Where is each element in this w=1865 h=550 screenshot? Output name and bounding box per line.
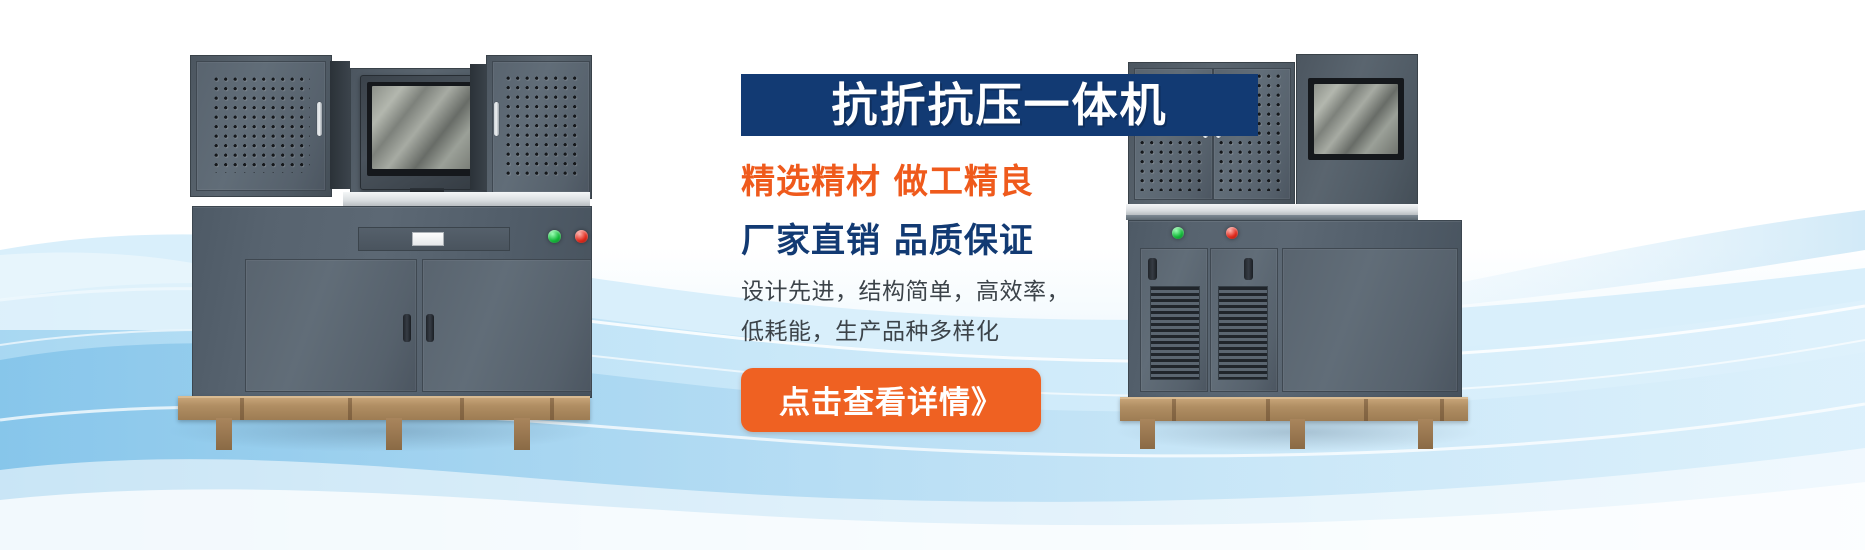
pallet-slat	[1364, 399, 1368, 421]
indicator-lamp-red-left	[575, 230, 588, 243]
pallet-foot-right	[514, 418, 530, 450]
tagline-secondary: 厂家直销 品质保证	[741, 213, 1301, 262]
pallet-slat	[1440, 399, 1444, 421]
pallet-foot-right-3	[1418, 419, 1433, 449]
headline-text: 抗折抗压一体机	[832, 82, 1168, 128]
headline-bar: 抗折抗压一体机	[741, 74, 1258, 136]
lower-door-handle-left-1	[403, 314, 411, 342]
pallet-slat	[550, 398, 554, 420]
cta-button[interactable]: 点击查看详情》	[741, 368, 1041, 432]
pallet-slat	[460, 398, 464, 420]
indicator-lamp-green-left	[548, 230, 561, 243]
description-line-2: 低耗能，生产品种多样化	[741, 314, 1301, 352]
description-line-1: 设计先进，结构简单，高效率，	[741, 274, 1301, 312]
pallet-slat	[240, 398, 244, 420]
lower-door-handle-left-2	[426, 314, 434, 342]
product-image-left	[170, 40, 590, 440]
monitor-screen-left	[372, 86, 480, 169]
lower-door-left-1	[245, 259, 417, 392]
name-plate-left	[412, 232, 444, 246]
promo-banner: 抗折抗压一体机 精选精材 做工精良 厂家直销 品质保证 设计先进，结构简单，高效…	[0, 0, 1865, 550]
wooden-pallet-left	[178, 396, 590, 420]
tagline-primary: 精选精材 做工精良	[741, 154, 1301, 203]
cabinet-handle-right-left-machine	[494, 102, 499, 136]
copy-block: 抗折抗压一体机 精选精材 做工精良 厂家直销 品质保证 设计先进，结构简单，高效…	[741, 74, 1301, 432]
pallet-slat	[348, 398, 352, 420]
pallet-foot-center	[386, 418, 402, 450]
lower-plain-door-right	[1282, 248, 1458, 392]
perforated-panel-left	[214, 77, 310, 173]
lower-door-left-2	[422, 259, 592, 392]
cta-button-label: 点击查看详情》	[779, 377, 1003, 422]
pallet-foot-left	[216, 418, 232, 450]
deck-strip-left	[343, 192, 590, 206]
perforated-panel-right-left-machine	[506, 76, 580, 176]
cabinet-handle-left	[317, 102, 322, 136]
monitor-screen-right	[1314, 84, 1398, 154]
left-cabinet-side	[330, 61, 350, 189]
